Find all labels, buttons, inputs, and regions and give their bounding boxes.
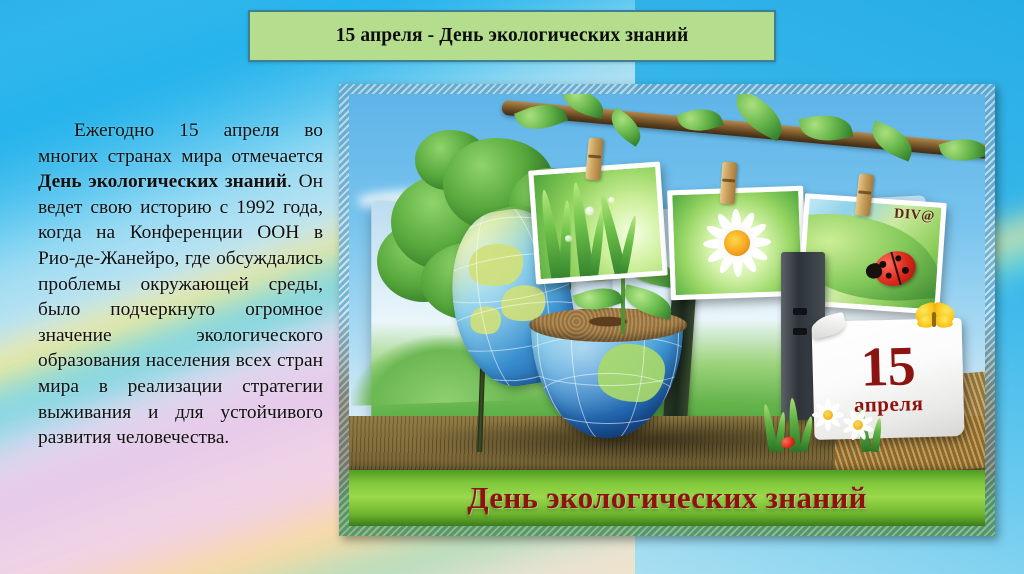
stand-slot <box>793 308 807 315</box>
ladybug-spot <box>894 255 901 262</box>
photo-watermark-text: DIV@ <box>894 206 936 225</box>
foreground-foliage <box>763 392 893 452</box>
slide-title-text: 15 апреля - День экологических знаний <box>336 25 689 47</box>
plant-leaf <box>621 284 675 319</box>
calendar-day-number: 15 <box>860 340 915 395</box>
plant-leaf <box>573 281 624 316</box>
daisy-center <box>853 420 863 430</box>
globe-gridline <box>537 373 679 424</box>
slide-title-banner: 15 апреля - День экологических знаний <box>248 10 776 62</box>
globe-lower-half <box>531 326 683 438</box>
illustration-canvas: DIV@ <box>349 94 985 526</box>
stand-slot <box>793 328 807 335</box>
body-paragraph: Ежегодно 15 апреля во многих странах мир… <box>38 118 323 451</box>
photo-grass-inner <box>534 167 663 279</box>
illustration-caption-band: День экологических знаний <box>349 470 985 526</box>
ladybug-spot <box>901 266 910 275</box>
daisy-center <box>823 410 833 420</box>
illustration-frame: DIV@ <box>339 84 995 536</box>
grass-blade <box>870 418 883 453</box>
body-text-part1: Ежегодно 15 апреля во многих странах мир… <box>38 120 323 167</box>
butterfly-body <box>932 312 936 327</box>
clothespin-icon <box>720 162 738 205</box>
butterfly-icon <box>915 304 955 332</box>
daisy-flower <box>845 412 871 438</box>
daisy-flower <box>813 400 843 430</box>
ladybug-spot <box>885 272 892 279</box>
illustration-caption-text: День экологических знаний <box>467 480 867 516</box>
grass-blade <box>799 416 815 453</box>
body-text-bold-phrase: День экологических знаний <box>38 171 287 192</box>
body-text-part2: . Он ведет свою историю с 1992 года, ког… <box>38 171 323 448</box>
